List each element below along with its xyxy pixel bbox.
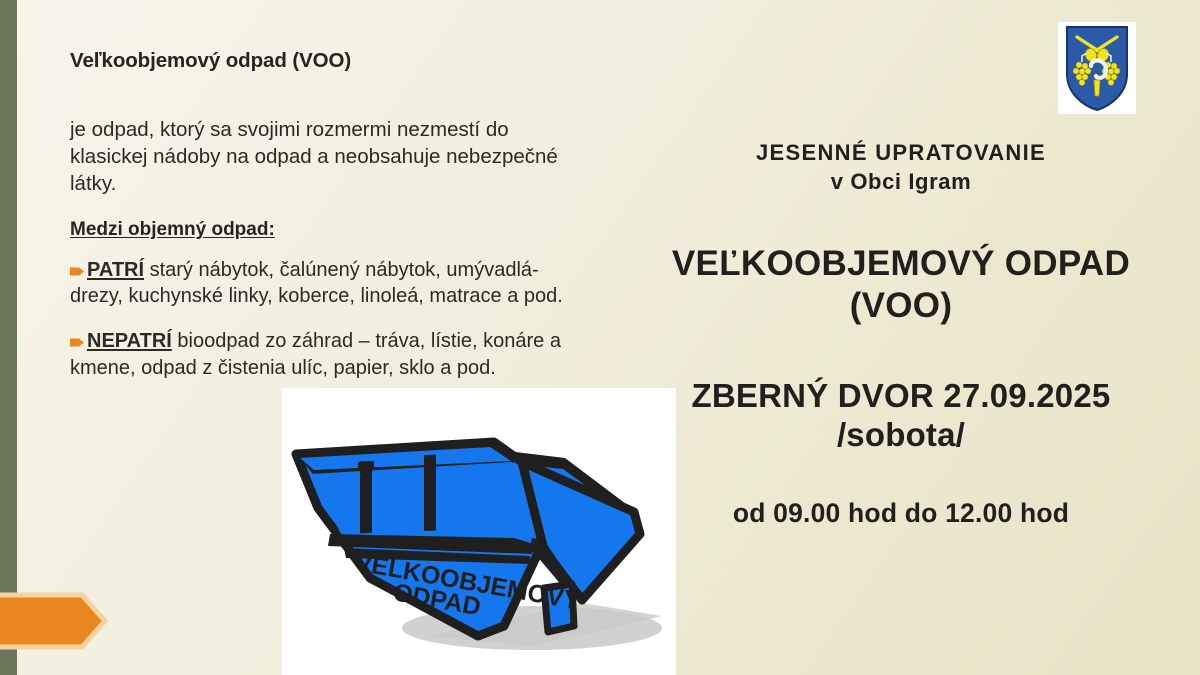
arrow-bullet-icon (70, 337, 85, 348)
left-text-column: Veľkoobjemový odpad (VOO) je odpad, ktor… (70, 48, 570, 399)
intro-paragraph: je odpad, ktorý sa svojimi rozmermi nezm… (70, 116, 570, 197)
event-heading-line2: v Obci Igram (648, 167, 1154, 196)
section-subtitle: Medzi objemný odpad: (70, 219, 275, 241)
event-heading-line1: JESENNÉ UPRATOVANIE (756, 140, 1046, 165)
right-text-column: JESENNÉ UPRATOVANIE v Obci Igram VEĽKOOB… (648, 138, 1154, 529)
igram-coat-of-arms (1058, 22, 1136, 114)
waste-type-abbrev: (VOO (850, 286, 941, 325)
skip-container-illustration: VELKOOBJEMOVY ODPAD (282, 388, 676, 675)
olive-edge-stripe (0, 0, 17, 675)
collection-date-line1: ZBERNÝ DVOR 27.09.2025 (648, 376, 1154, 416)
waste-type-heading: VEĽKOOBJEMOVÝ ODPAD (VOO) (648, 243, 1154, 328)
list-item-key: NEPATRÍ (87, 330, 172, 352)
waste-type-abbrev-close: ) (940, 286, 952, 325)
collection-hours: od 09.00 hod do 12.00 hod (648, 498, 1154, 529)
collection-date-line2: /sobota/ (648, 415, 1154, 455)
orange-arrow-shape (0, 592, 108, 650)
collection-date-heading: ZBERNÝ DVOR 27.09.2025 /sobota/ (648, 376, 1154, 455)
list-item-text: starý nábytok, čalúnený nábytok, umývadl… (70, 259, 563, 308)
slide-canvas: Veľkoobjemový odpad (VOO) je odpad, ktor… (0, 0, 1200, 675)
arrow-bullet-icon (70, 266, 85, 277)
event-heading: JESENNÉ UPRATOVANIE v Obci Igram (648, 138, 1154, 197)
waste-type-line1: VEĽKOOBJEMOVÝ ODPAD (648, 243, 1154, 286)
list-item: PATRÍ starý nábytok, čalúnený nábytok, u… (70, 257, 570, 310)
page-title: Veľkoobjemový odpad (VOO) (70, 48, 570, 74)
list-item-key: PATRÍ (87, 259, 144, 281)
waste-type-line2: (VOO) (648, 285, 1154, 328)
list-item: NEPATRÍ bioodpad zo záhrad – tráva, líst… (70, 328, 570, 381)
